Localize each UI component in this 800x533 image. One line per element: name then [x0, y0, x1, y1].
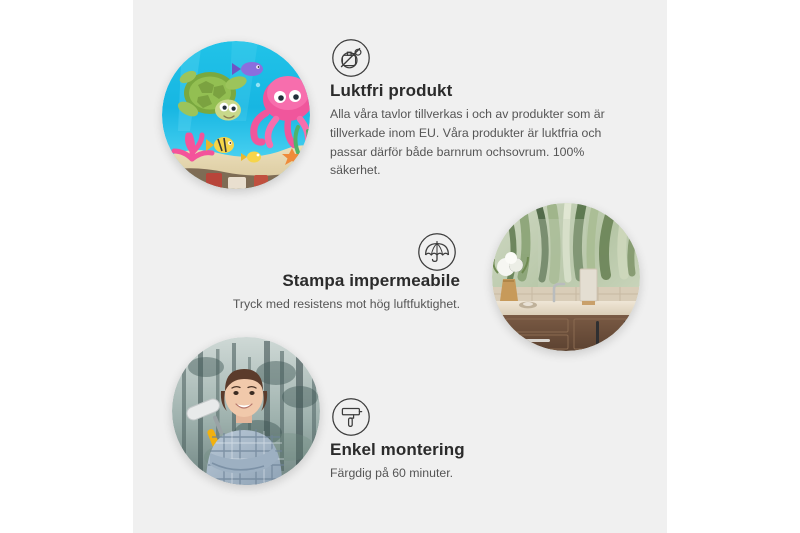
feature-text-easy-mounting: Enkel montering Färgdig på 60 minuter. [330, 439, 630, 483]
feature-title-waterproof-print: Stampa impermeabile [160, 270, 460, 291]
paint-roller-icon [331, 397, 371, 437]
feature-body-odour-free: Alla våra tavlor tillverkas i och av pro… [330, 105, 630, 180]
feature-text-odour-free: Luktfri produkt Alla våra tavlor tillver… [330, 80, 630, 180]
bathroom-botanical-photo [492, 203, 640, 351]
feature-text-waterproof-print: Stampa impermeabile Tryck med resistens … [160, 270, 460, 314]
underwater-cartoon-photo [162, 41, 310, 189]
product-feature-infographic: Luktfri produkt Alla våra tavlor tillver… [0, 0, 800, 533]
umbrella-icon [417, 232, 457, 272]
feature-body-easy-mounting: Färgdig på 60 minuter. [330, 464, 630, 483]
feature-title-odour-free: Luktfri produkt [330, 80, 630, 101]
feature-title-easy-mounting: Enkel montering [330, 439, 630, 460]
no-perfume-icon [331, 38, 371, 78]
decorator-forest-photo [172, 337, 320, 485]
feature-body-waterproof-print: Tryck med resistens mot hög luftfuktighe… [160, 295, 460, 314]
